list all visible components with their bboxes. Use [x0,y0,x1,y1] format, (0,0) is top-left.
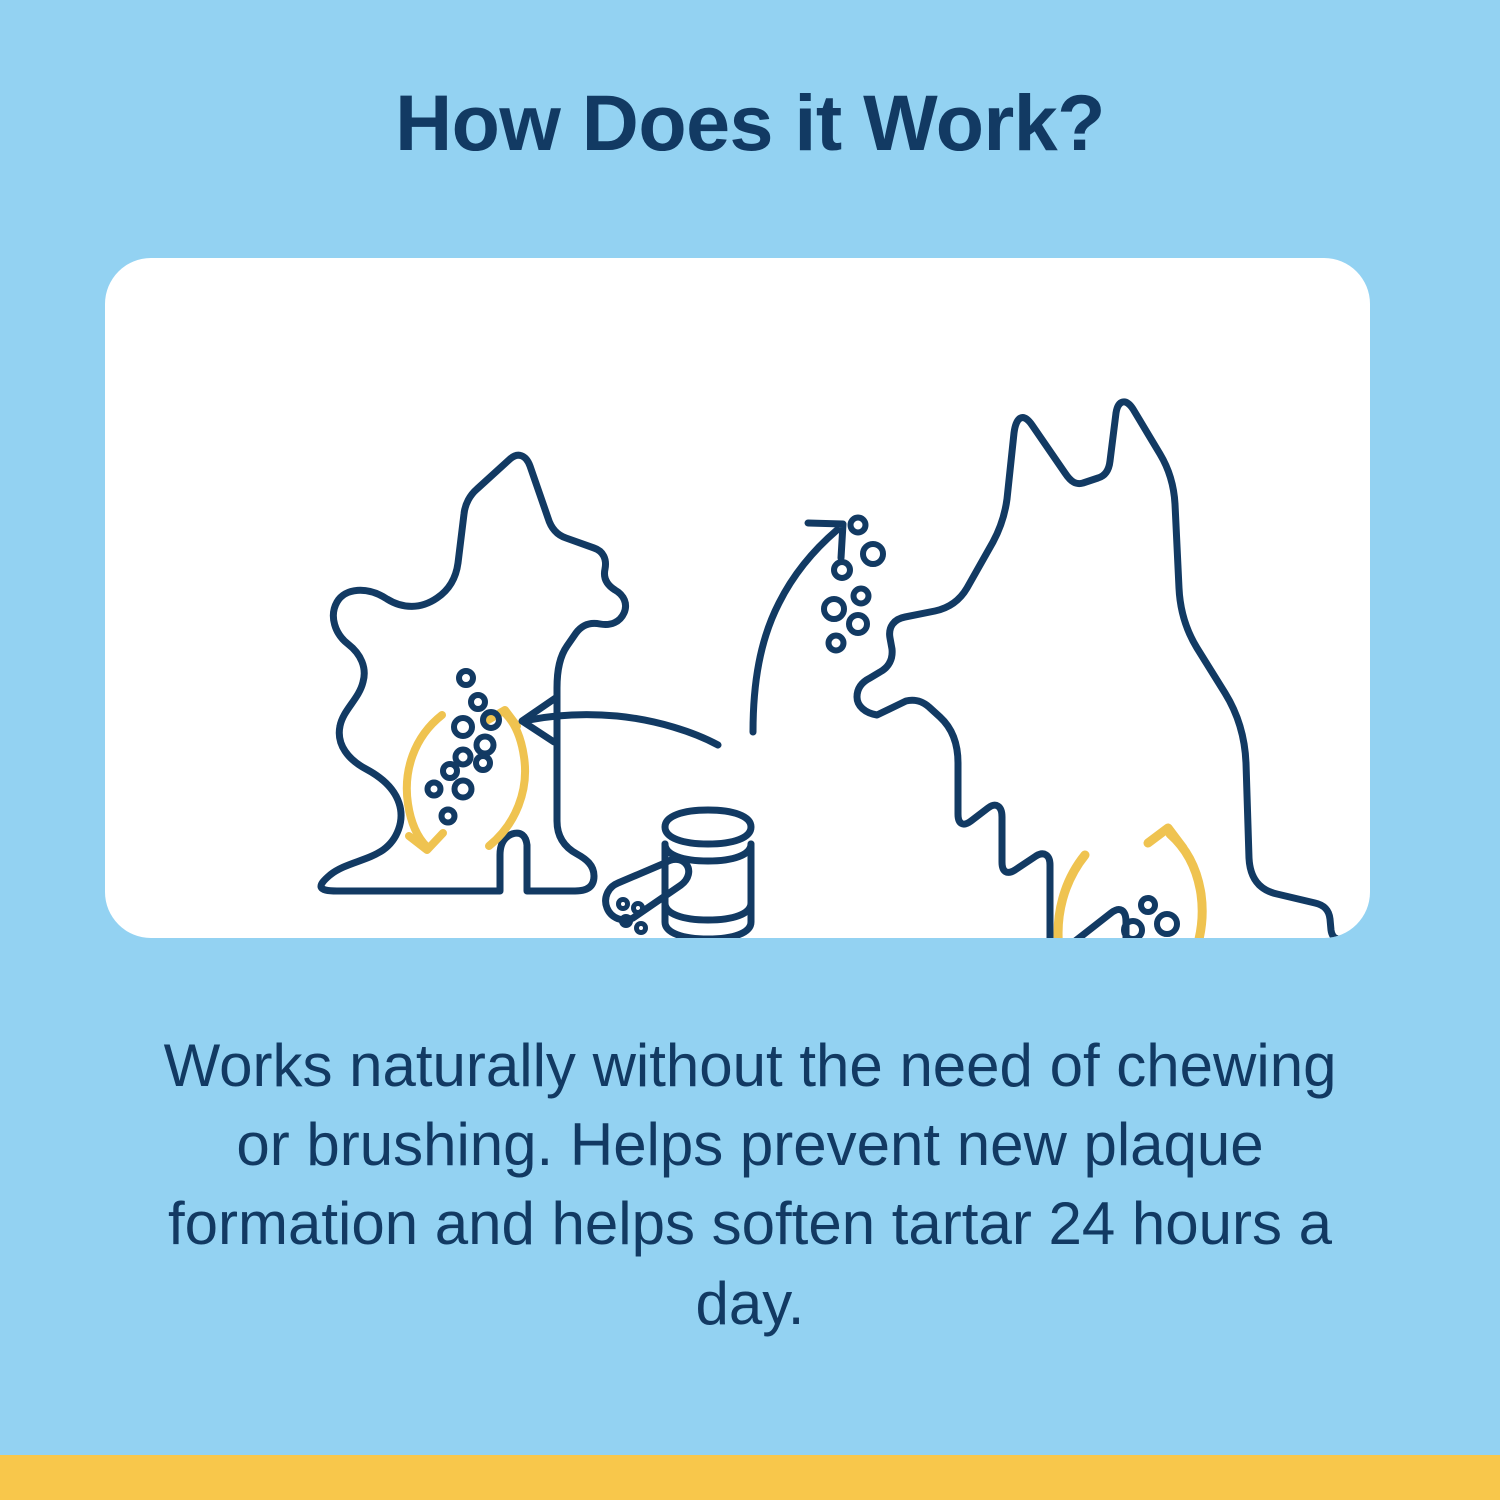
dog-cycle-arrow-left [1058,855,1085,938]
dog-particles [1124,898,1190,938]
illustration-card [105,258,1370,938]
how-it-works-illustration [105,258,1370,938]
jar-body-ridge [665,903,751,920]
bottom-accent-bar [0,1455,1500,1500]
dog-outline-path [857,402,1370,938]
jar-lid [665,810,751,844]
page-title: How Does it Work? [0,82,1500,165]
arrow-jar-to-dog-path [753,530,837,732]
jar-scoop [606,859,689,920]
cat-cycle-arrow-right [489,713,525,846]
infographic-root: How Does it Work? [0,0,1500,1500]
body-copy: Works naturally without the need of chew… [150,1026,1350,1343]
supplement-jar-group [606,810,751,938]
dog-cycle-arrowhead-right [1148,828,1183,848]
